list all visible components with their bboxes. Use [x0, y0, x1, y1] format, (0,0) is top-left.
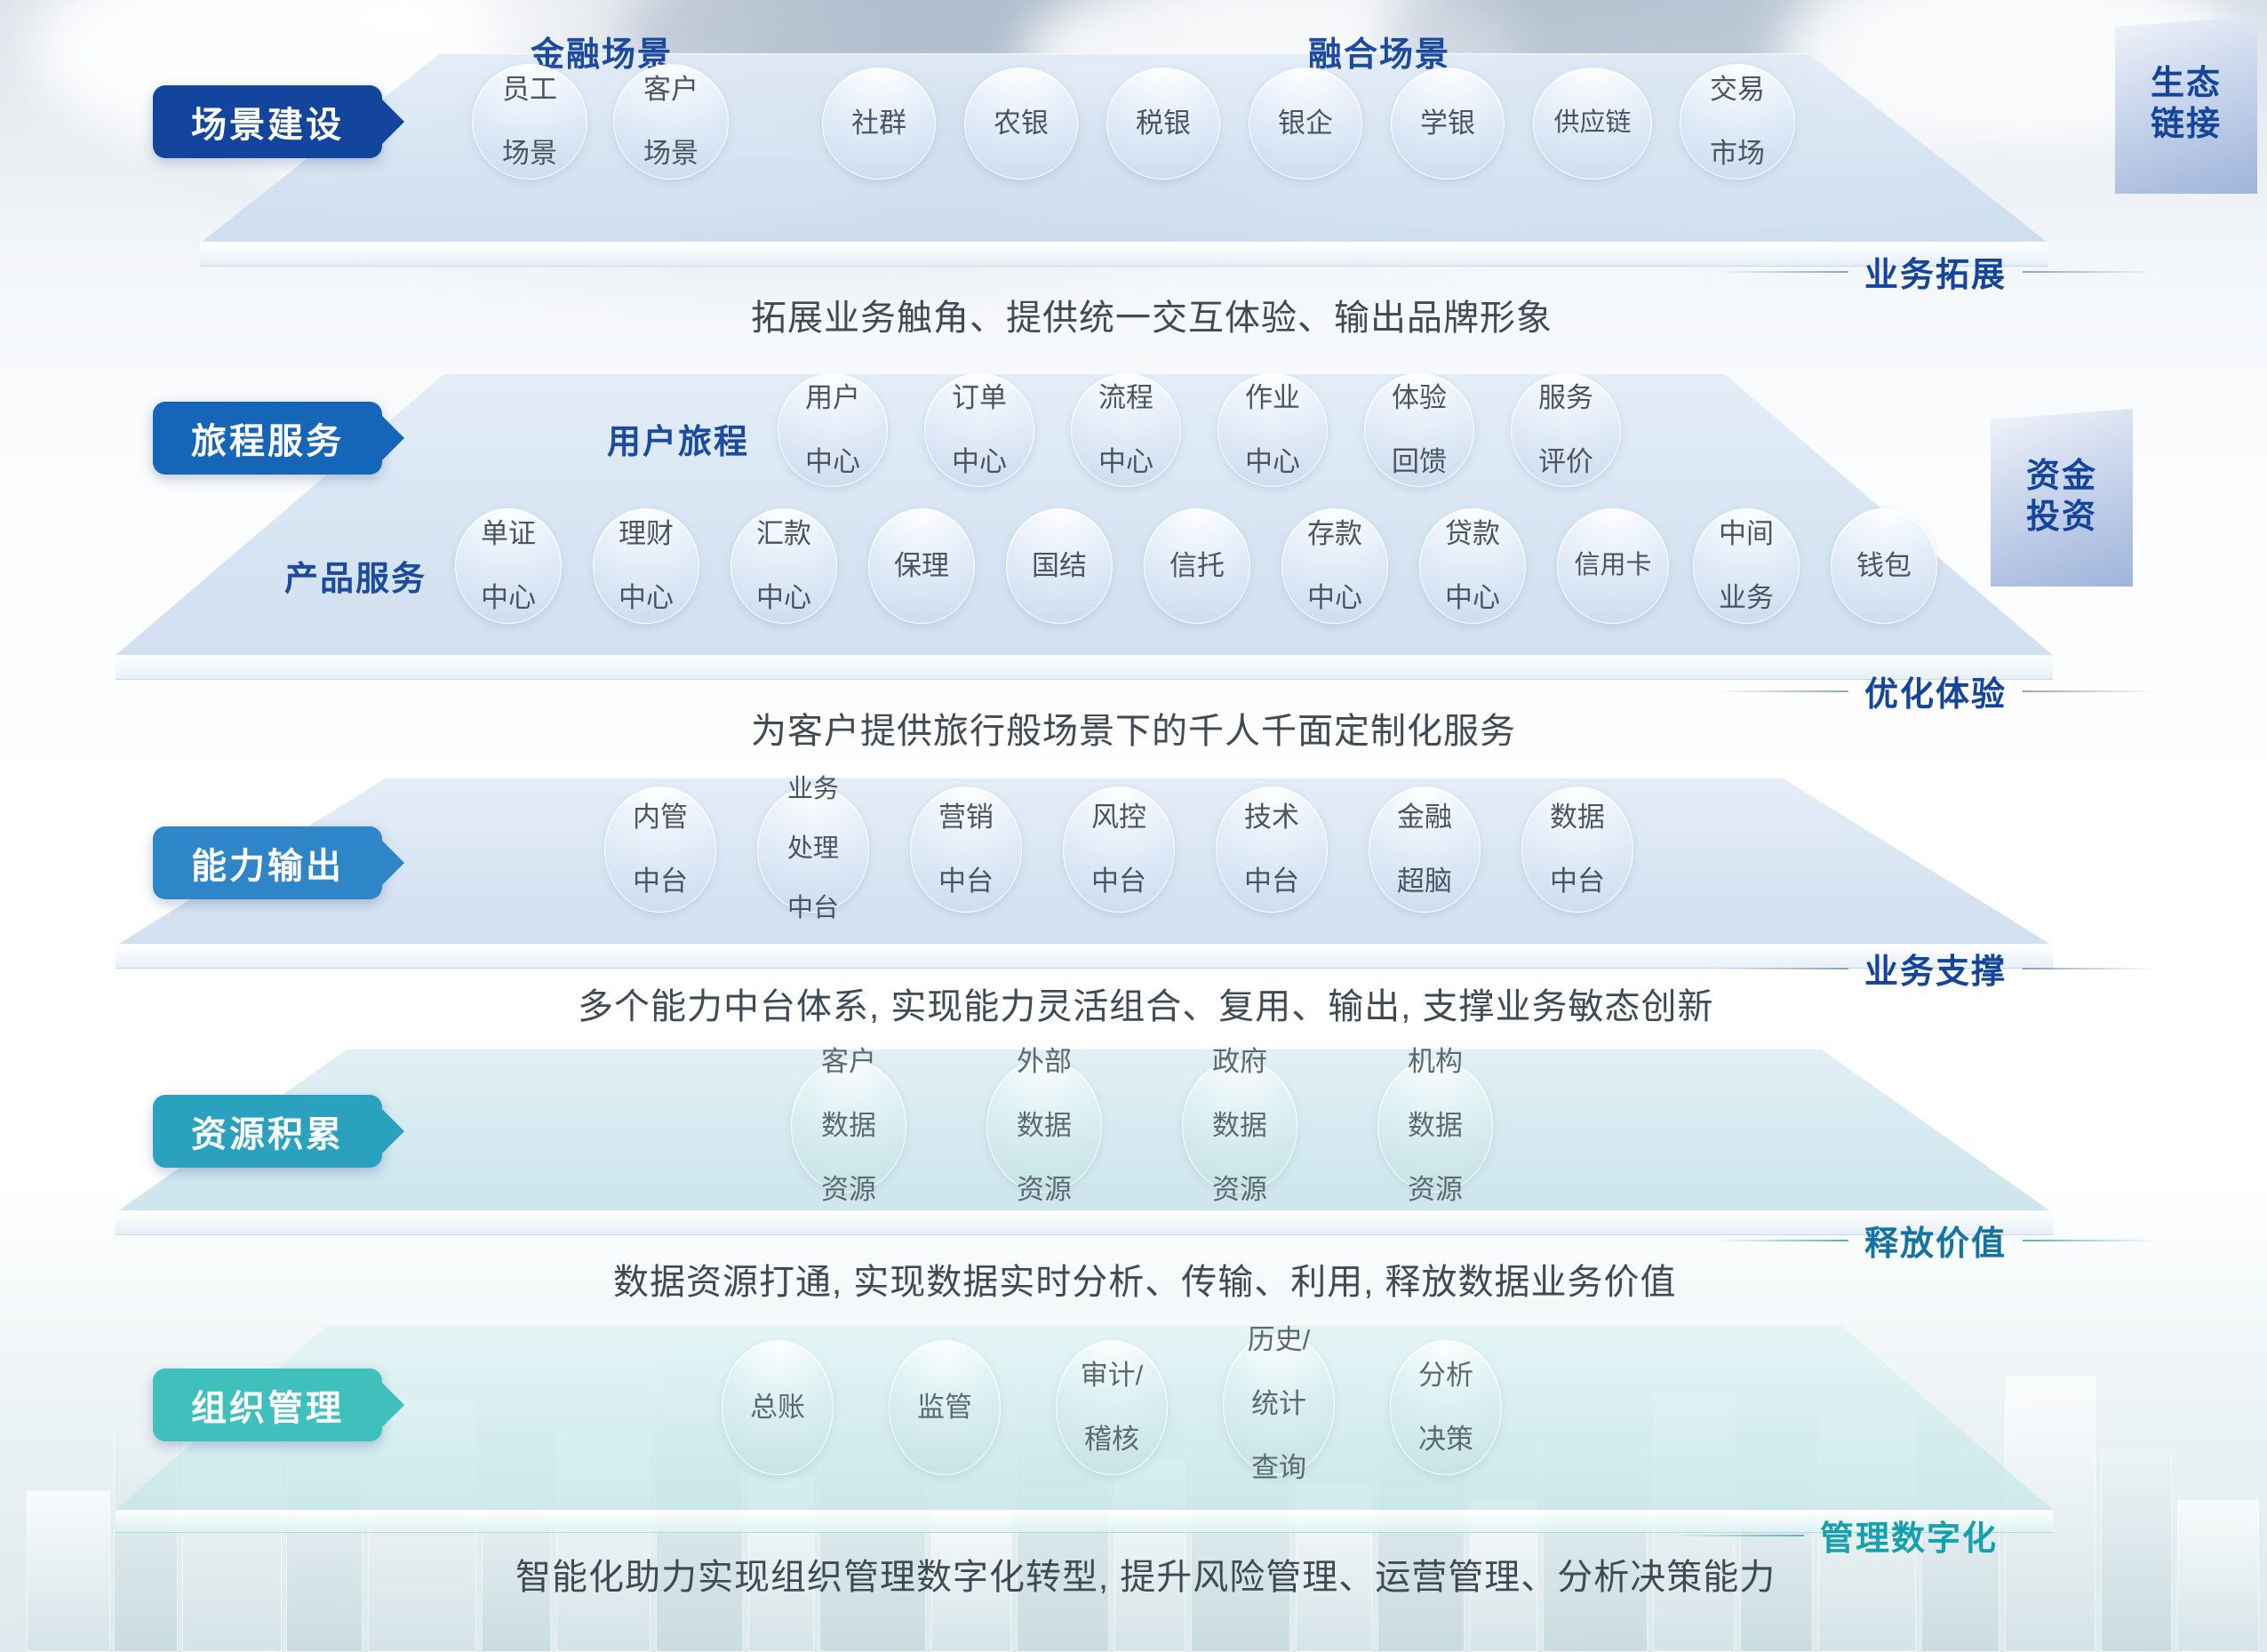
right-label-text: 业务支撑 — [1864, 944, 2007, 993]
node-line: 数据 — [1017, 1110, 1072, 1142]
layer-label-scene[interactable]: 场景建设 — [153, 85, 382, 158]
node-line: 风控 — [1091, 802, 1146, 834]
node-line: 数据 — [821, 1110, 876, 1142]
node-line: 政府 — [1212, 1046, 1267, 1078]
node-capability-business-processing[interactable]: 业务处理中台 — [757, 786, 869, 913]
layer-label-resource-text: 资源积累 — [191, 1105, 344, 1157]
layer-description-resource: 数据资源打通, 实现数据实时分析、传输、利用, 释放数据业务价值 — [613, 1253, 1676, 1305]
node-journey-operation-center[interactable]: 作业中心 — [1217, 373, 1328, 487]
node-line: 中台 — [633, 866, 688, 898]
node-org-general-ledger[interactable]: 总账 — [722, 1340, 834, 1475]
node-line: 中台 — [1550, 866, 1605, 898]
node-line: 汇款 — [756, 518, 811, 550]
layer-label-capability-text: 能力输出 — [191, 837, 344, 889]
node-line: 中心 — [1245, 446, 1300, 478]
architecture-diagram: 场景建设 金融场景 融合场景 员工场景 客户场景 社群 农银 税银 银企 学银 … — [0, 0, 2267, 1652]
node-scene-agribank[interactable]: 农银 — [964, 68, 1078, 180]
node-org-history-statistics[interactable]: 历史/统计查询 — [1223, 1333, 1335, 1475]
node-line: 评价 — [1538, 446, 1593, 478]
node-line: 中台 — [787, 894, 839, 924]
layer-label-journey[interactable]: 旅程服务 — [153, 402, 382, 475]
node-product-loan-center[interactable]: 贷款中心 — [1419, 508, 1526, 624]
node-product-document-center[interactable]: 单证中心 — [455, 508, 562, 624]
group-heading-product-service: 产品服务 — [284, 551, 427, 600]
node-line: 技术 — [1244, 802, 1299, 834]
node-scene-trademarket[interactable]: 交易市场 — [1680, 64, 1795, 180]
node-line: 营销 — [938, 802, 994, 834]
group-heading-user-journey: 用户旅程 — [607, 414, 749, 463]
node-line: 农银 — [994, 108, 1049, 140]
node-line: 中心 — [1307, 582, 1362, 614]
node-capability-marketing[interactable]: 营销中台 — [910, 786, 1022, 913]
node-org-analysis-decision[interactable]: 分析决策 — [1390, 1340, 1502, 1475]
node-line: 内管 — [633, 802, 688, 834]
node-line: 历史/ — [1248, 1324, 1311, 1356]
node-line: 中心 — [619, 582, 674, 614]
node-line: 银企 — [1278, 108, 1333, 140]
node-line: 决策 — [1418, 1424, 1473, 1456]
node-line: 理财 — [619, 518, 674, 550]
node-capability-technology[interactable]: 技术中台 — [1216, 786, 1328, 913]
node-line: 审计/ — [1081, 1360, 1144, 1392]
node-line: 市场 — [1710, 138, 1765, 170]
right-label-optimize-experience: 优化体验 — [1715, 666, 2156, 715]
node-line: 中心 — [952, 446, 1007, 478]
node-line: 分析 — [1418, 1360, 1473, 1392]
banner-line: 资金 — [2026, 458, 2097, 495]
node-line: 资源 — [1212, 1174, 1267, 1206]
node-line: 中心 — [481, 582, 536, 614]
node-line: 监管 — [917, 1392, 972, 1424]
side-banner-ecosystem: 生态 链接 — [2115, 16, 2257, 194]
node-line: 单证 — [481, 518, 536, 550]
node-product-deposit-center[interactable]: 存款中心 — [1281, 508, 1388, 624]
node-resource-external-data[interactable]: 外部数据资源 — [986, 1059, 1102, 1193]
node-line: 订单 — [952, 382, 1007, 414]
node-scene-bankenterprise[interactable]: 银企 — [1249, 68, 1362, 180]
node-capability-risk-control[interactable]: 风控中台 — [1063, 786, 1175, 913]
layer-label-resource[interactable]: 资源积累 — [153, 1095, 382, 1168]
node-line: 客户 — [821, 1046, 876, 1078]
node-line: 数据 — [1408, 1110, 1463, 1142]
node-line: 学银 — [1420, 108, 1475, 140]
node-line: 交易 — [1710, 74, 1765, 106]
node-journey-user-center[interactable]: 用户中心 — [778, 373, 888, 487]
node-line: 存款 — [1307, 518, 1362, 550]
node-line: 体验 — [1392, 382, 1447, 414]
node-line: 场景 — [502, 138, 557, 170]
node-line: 超脑 — [1397, 866, 1452, 898]
right-label-release-value: 释放价值 — [1715, 1216, 2156, 1265]
node-line: 外部 — [1017, 1046, 1072, 1078]
side-banner-capital: 资金 投资 — [1991, 409, 2133, 587]
node-product-intermediary[interactable]: 中间业务 — [1693, 508, 1800, 624]
node-line: 中心 — [1445, 582, 1500, 614]
node-scene-staff[interactable]: 员工场景 — [472, 64, 587, 180]
node-journey-order-center[interactable]: 订单中心 — [924, 373, 1034, 487]
node-resource-government-data[interactable]: 政府数据资源 — [1182, 1059, 1297, 1193]
node-line: 中台 — [1091, 866, 1146, 898]
node-line: 稽核 — [1081, 1424, 1144, 1456]
group-heading-fusion-scene: 融合场景 — [1308, 27, 1450, 76]
right-label-text: 优化体验 — [1864, 666, 2007, 715]
node-line: 资源 — [1017, 1174, 1072, 1206]
layer-description-capability: 多个能力中台体系, 实现能力灵活组合、复用、输出, 支撑业务敏态创新 — [578, 978, 1713, 1029]
node-line: 查询 — [1248, 1452, 1311, 1484]
right-label-business-expansion: 业务拓展 — [1715, 247, 2156, 296]
layer-label-journey-text: 旅程服务 — [191, 412, 344, 464]
node-line: 资源 — [1408, 1174, 1463, 1206]
node-line: 服务 — [1538, 382, 1593, 414]
banner-line: 生态 — [2151, 65, 2222, 102]
node-line: 资源 — [821, 1174, 876, 1206]
node-line: 供应链 — [1553, 108, 1631, 139]
node-line: 金融 — [1397, 802, 1452, 834]
node-line: 总账 — [750, 1392, 805, 1424]
node-line: 信托 — [1169, 550, 1225, 582]
node-line: 场景 — [643, 138, 698, 170]
node-product-credit-card[interactable]: 信用卡 — [1557, 508, 1669, 624]
node-capability-finance-brain[interactable]: 金融超脑 — [1369, 786, 1481, 913]
node-line: 作业 — [1245, 382, 1300, 414]
layer-description-scene: 拓展业务触角、提供统一交互体验、输出品牌形象 — [751, 289, 1553, 340]
node-line: 回馈 — [1392, 446, 1447, 478]
node-line: 中台 — [938, 866, 994, 898]
node-product-wallet[interactable]: 钱包 — [1831, 508, 1937, 624]
node-line: 数据 — [1212, 1110, 1267, 1142]
node-line: 中间 — [1719, 518, 1774, 550]
node-line: 机构 — [1408, 1046, 1463, 1078]
node-line: 中心 — [1098, 446, 1153, 478]
node-capability-internal-mgmt[interactable]: 内管中台 — [604, 786, 716, 913]
node-line: 统计 — [1248, 1388, 1311, 1420]
layer-label-scene-text: 场景建设 — [191, 96, 344, 148]
node-line: 钱包 — [1856, 550, 1912, 582]
node-product-factoring[interactable]: 保理 — [868, 508, 975, 624]
node-scene-community[interactable]: 社群 — [822, 68, 936, 180]
node-scene-customer[interactable]: 客户场景 — [613, 64, 729, 180]
layer-label-organization-text: 组织管理 — [191, 1379, 344, 1431]
node-product-wealth-center[interactable]: 理财中心 — [593, 508, 699, 624]
node-org-supervision[interactable]: 监管 — [889, 1340, 1001, 1475]
node-line: 保理 — [894, 550, 949, 582]
node-journey-process-center[interactable]: 流程中心 — [1071, 373, 1181, 487]
banner-line: 链接 — [2151, 106, 2222, 143]
node-resource-institution-data[interactable]: 机构数据资源 — [1377, 1059, 1493, 1193]
layer-label-organization[interactable]: 组织管理 — [153, 1369, 382, 1441]
layer-label-capability[interactable]: 能力输出 — [153, 826, 382, 899]
right-label-text: 管理数字化 — [1820, 1511, 1998, 1560]
node-line: 数据 — [1550, 802, 1605, 834]
node-line: 贷款 — [1445, 518, 1500, 550]
node-line: 信用卡 — [1574, 551, 1651, 581]
node-line: 用户 — [805, 382, 860, 414]
node-journey-service-rating[interactable]: 服务评价 — [1511, 373, 1621, 487]
node-capability-data[interactable]: 数据中台 — [1521, 786, 1633, 913]
node-scene-taxbank[interactable]: 税银 — [1106, 68, 1220, 180]
node-line: 社群 — [851, 108, 906, 140]
node-scene-supplychain[interactable]: 供应链 — [1533, 68, 1652, 180]
node-line: 客户 — [643, 74, 698, 106]
node-scene-schoolbank[interactable]: 学银 — [1391, 68, 1505, 180]
node-product-intl-settlement[interactable]: 国结 — [1006, 508, 1113, 624]
node-line: 中心 — [756, 582, 811, 614]
node-product-trust[interactable]: 信托 — [1144, 508, 1250, 624]
node-resource-customer-data[interactable]: 客户数据资源 — [791, 1059, 906, 1193]
right-label-text: 释放价值 — [1864, 1216, 2007, 1265]
node-line: 税银 — [1136, 108, 1191, 140]
node-line: 国结 — [1032, 550, 1087, 582]
node-line: 处理 — [787, 834, 839, 865]
node-line: 业务 — [787, 775, 839, 805]
layer-description-organization: 智能化助力实现组织管理数字化转型, 提升风险管理、运营管理、分析决策能力 — [515, 1548, 1776, 1600]
node-product-remittance-center[interactable]: 汇款中心 — [730, 508, 837, 624]
right-label-business-support: 业务支撑 — [1715, 944, 2156, 993]
node-org-audit[interactable]: 审计/稽核 — [1056, 1340, 1168, 1475]
right-label-text: 业务拓展 — [1864, 247, 2007, 296]
node-line: 流程 — [1098, 382, 1153, 414]
node-line: 中台 — [1244, 866, 1299, 898]
banner-line: 投资 — [2026, 499, 2097, 536]
node-line: 中心 — [805, 446, 860, 478]
node-line: 业务 — [1719, 582, 1774, 614]
layer-description-journey: 为客户提供旅行般场景下的千人千面定制化服务 — [751, 702, 1516, 754]
node-journey-experience-feedback[interactable]: 体验回馈 — [1364, 373, 1474, 487]
node-line: 员工 — [502, 74, 557, 106]
